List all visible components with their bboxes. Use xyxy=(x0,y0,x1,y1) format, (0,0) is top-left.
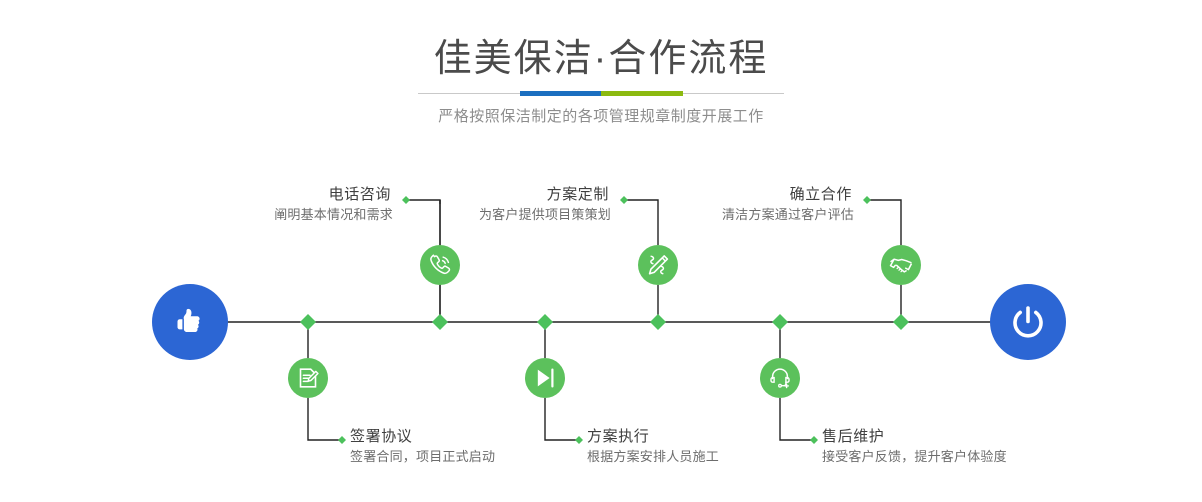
step-label-4: 方案执行 根据方案安排人员施工 xyxy=(587,427,719,466)
connector-step-2-elbow xyxy=(308,398,339,440)
timeline-marker-6 xyxy=(893,314,909,330)
timeline-marker-5 xyxy=(772,314,788,330)
connector-step-6-elbow xyxy=(780,398,811,440)
step-title-4: 方案执行 xyxy=(587,427,719,447)
step-desc-4: 根据方案安排人员施工 xyxy=(587,447,719,466)
power-icon xyxy=(1007,301,1049,343)
handshake-icon xyxy=(888,252,914,278)
customer-service-icon xyxy=(767,365,793,391)
connector-step-5-elbow xyxy=(870,200,901,245)
document-sign-icon xyxy=(295,365,321,391)
pointing-hand-icon xyxy=(170,302,210,342)
infographic-canvas: 佳美保洁·合作流程 严格按照保洁制定的各项管理规章制度开展工作 xyxy=(0,0,1202,502)
step-title-5: 确立合作 xyxy=(722,185,854,205)
step-node-3[interactable] xyxy=(638,245,678,285)
connector-step-1-elbow xyxy=(409,200,440,245)
step-desc-5: 清洁方案通过客户评估 xyxy=(722,205,854,224)
step-label-5: 确立合作 清洁方案通过客户评估 xyxy=(722,185,854,224)
flow-end-node[interactable] xyxy=(990,284,1066,360)
label-marker-step-1 xyxy=(402,196,410,204)
label-marker-step-5 xyxy=(863,196,871,204)
connector-step-4-elbow xyxy=(545,398,576,440)
step-node-4[interactable] xyxy=(525,358,565,398)
label-markers xyxy=(338,196,871,444)
process-flow-diagram: 电话咨询 阐明基本情况和需求 签署协议 签署合同，项目正式启动 xyxy=(0,0,1202,502)
step-title-2: 签署协议 xyxy=(350,427,495,447)
step-node-6[interactable] xyxy=(760,358,800,398)
step-title-3: 方案定制 xyxy=(479,185,611,205)
step-node-2[interactable] xyxy=(288,358,328,398)
timeline-marker-1 xyxy=(300,314,316,330)
label-marker-step-3 xyxy=(620,196,628,204)
step-label-3: 方案定制 为客户提供项目策策划 xyxy=(479,185,611,224)
label-marker-step-2 xyxy=(338,436,346,444)
pencil-design-icon xyxy=(645,252,671,278)
timeline-marker-2 xyxy=(432,314,448,330)
step-label-2: 签署协议 签署合同，项目正式启动 xyxy=(350,427,495,466)
timeline-marker-4 xyxy=(650,314,666,330)
step-title-6: 售后维护 xyxy=(822,427,1007,447)
label-marker-step-6 xyxy=(810,436,818,444)
connector-step-3-elbow xyxy=(627,200,658,245)
step-label-6: 售后维护 接受客户反馈，提升客户体验度 xyxy=(822,427,1007,466)
phone-call-icon xyxy=(427,252,453,278)
step-desc-2: 签署合同，项目正式启动 xyxy=(350,447,495,466)
play-execute-icon xyxy=(532,365,558,391)
step-node-5[interactable] xyxy=(881,245,921,285)
step-desc-1: 阐明基本情况和需求 xyxy=(274,205,393,224)
step-desc-3: 为客户提供项目策策划 xyxy=(479,205,611,224)
step-label-1: 电话咨询 阐明基本情况和需求 xyxy=(274,185,393,224)
step-node-1[interactable] xyxy=(420,245,460,285)
flow-start-node[interactable] xyxy=(152,284,228,360)
step-title-1: 电话咨询 xyxy=(274,185,393,205)
label-marker-step-4 xyxy=(575,436,583,444)
step-desc-6: 接受客户反馈，提升客户体验度 xyxy=(822,447,1007,466)
timeline-marker-3 xyxy=(537,314,553,330)
